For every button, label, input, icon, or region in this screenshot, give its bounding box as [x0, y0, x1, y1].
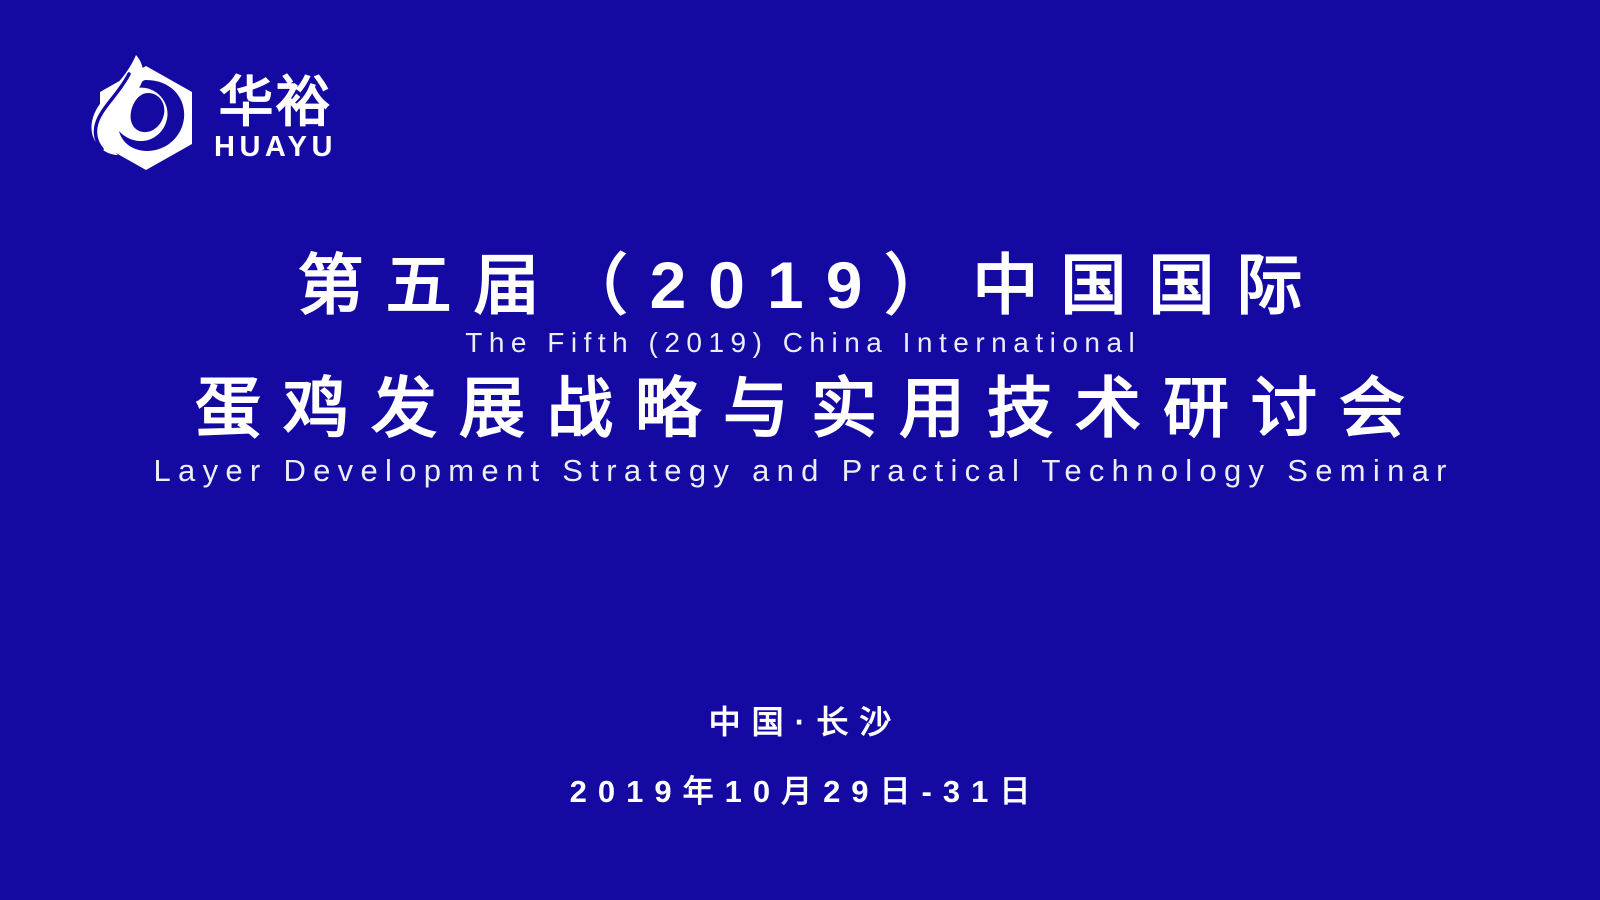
- brand-wordmark: 华裕 HUAYU: [214, 62, 337, 162]
- title-line1-en: The Fifth (2019) China International: [0, 329, 1600, 357]
- conference-title-block: 第五届（2019）中国国际 The Fifth (2019) China Int…: [0, 252, 1600, 486]
- conference-footer-block: 中国·长沙 2019年10月29日-31日: [0, 706, 1600, 807]
- brand-logo-lockup: 华裕 HUAYU: [88, 52, 337, 172]
- event-date-text: 2019年10月29日-31日: [0, 776, 1600, 807]
- title-line2-cn: 蛋鸡发展战略与实用技术研讨会: [0, 375, 1600, 441]
- conference-banner: 华裕 HUAYU 第五届（2019）中国国际 The Fifth (2019) …: [0, 0, 1600, 900]
- title-line2-en: Layer Development Strategy and Practical…: [0, 455, 1600, 486]
- huayu-hexagon-swirl-logo-icon: [88, 52, 200, 172]
- brand-name-cn: 华裕: [218, 76, 332, 130]
- brand-name-en: HUAYU: [214, 132, 337, 162]
- title-line1-cn: 第五届（2019）中国国际: [0, 252, 1600, 318]
- venue-text: 中国·长沙: [0, 706, 1600, 738]
